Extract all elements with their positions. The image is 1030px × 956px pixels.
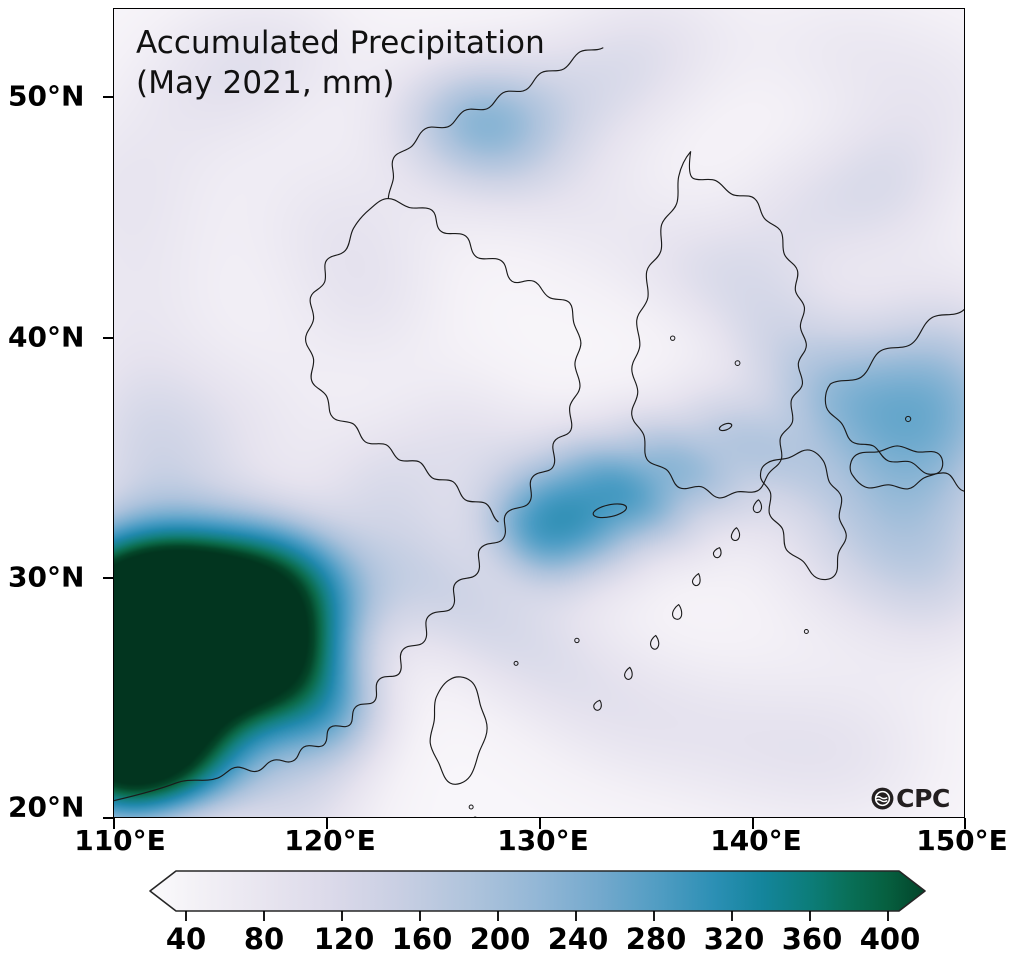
- globe-icon: [870, 786, 895, 811]
- y-tick-mark: [103, 577, 114, 579]
- y-tick-label: 20°N: [8, 791, 84, 824]
- y-tick-mark: [103, 337, 114, 339]
- page-title: Accumulated Precipitation (May 2021, mm): [136, 23, 545, 104]
- colorbar-body[interactable]: [150, 871, 925, 911]
- x-tick-label: 120°E: [284, 824, 376, 857]
- map-plot-area[interactable]: Accumulated Precipitation (May 2021, mm)…: [113, 8, 965, 818]
- x-tick-label: 140°E: [710, 824, 802, 857]
- y-tick-label: 30°N: [8, 561, 84, 594]
- x-tick-label: 130°E: [497, 824, 589, 857]
- title-line-2: (May 2021, mm): [136, 65, 395, 101]
- y-tick-label: 50°N: [8, 80, 84, 113]
- cpc-label: CPC: [896, 786, 950, 811]
- x-tick-label: 110°E: [74, 824, 166, 857]
- cpc-credit: CPC: [870, 786, 950, 811]
- title-line-1: Accumulated Precipitation: [136, 25, 545, 61]
- precipitation-map-figure: Accumulated Precipitation (May 2021, mm)…: [0, 0, 1030, 951]
- y-tick-label: 40°N: [8, 321, 84, 354]
- coastline-overlay: [114, 9, 964, 817]
- x-tick-label: 150°E: [916, 824, 1008, 857]
- y-tick-mark: [103, 96, 114, 98]
